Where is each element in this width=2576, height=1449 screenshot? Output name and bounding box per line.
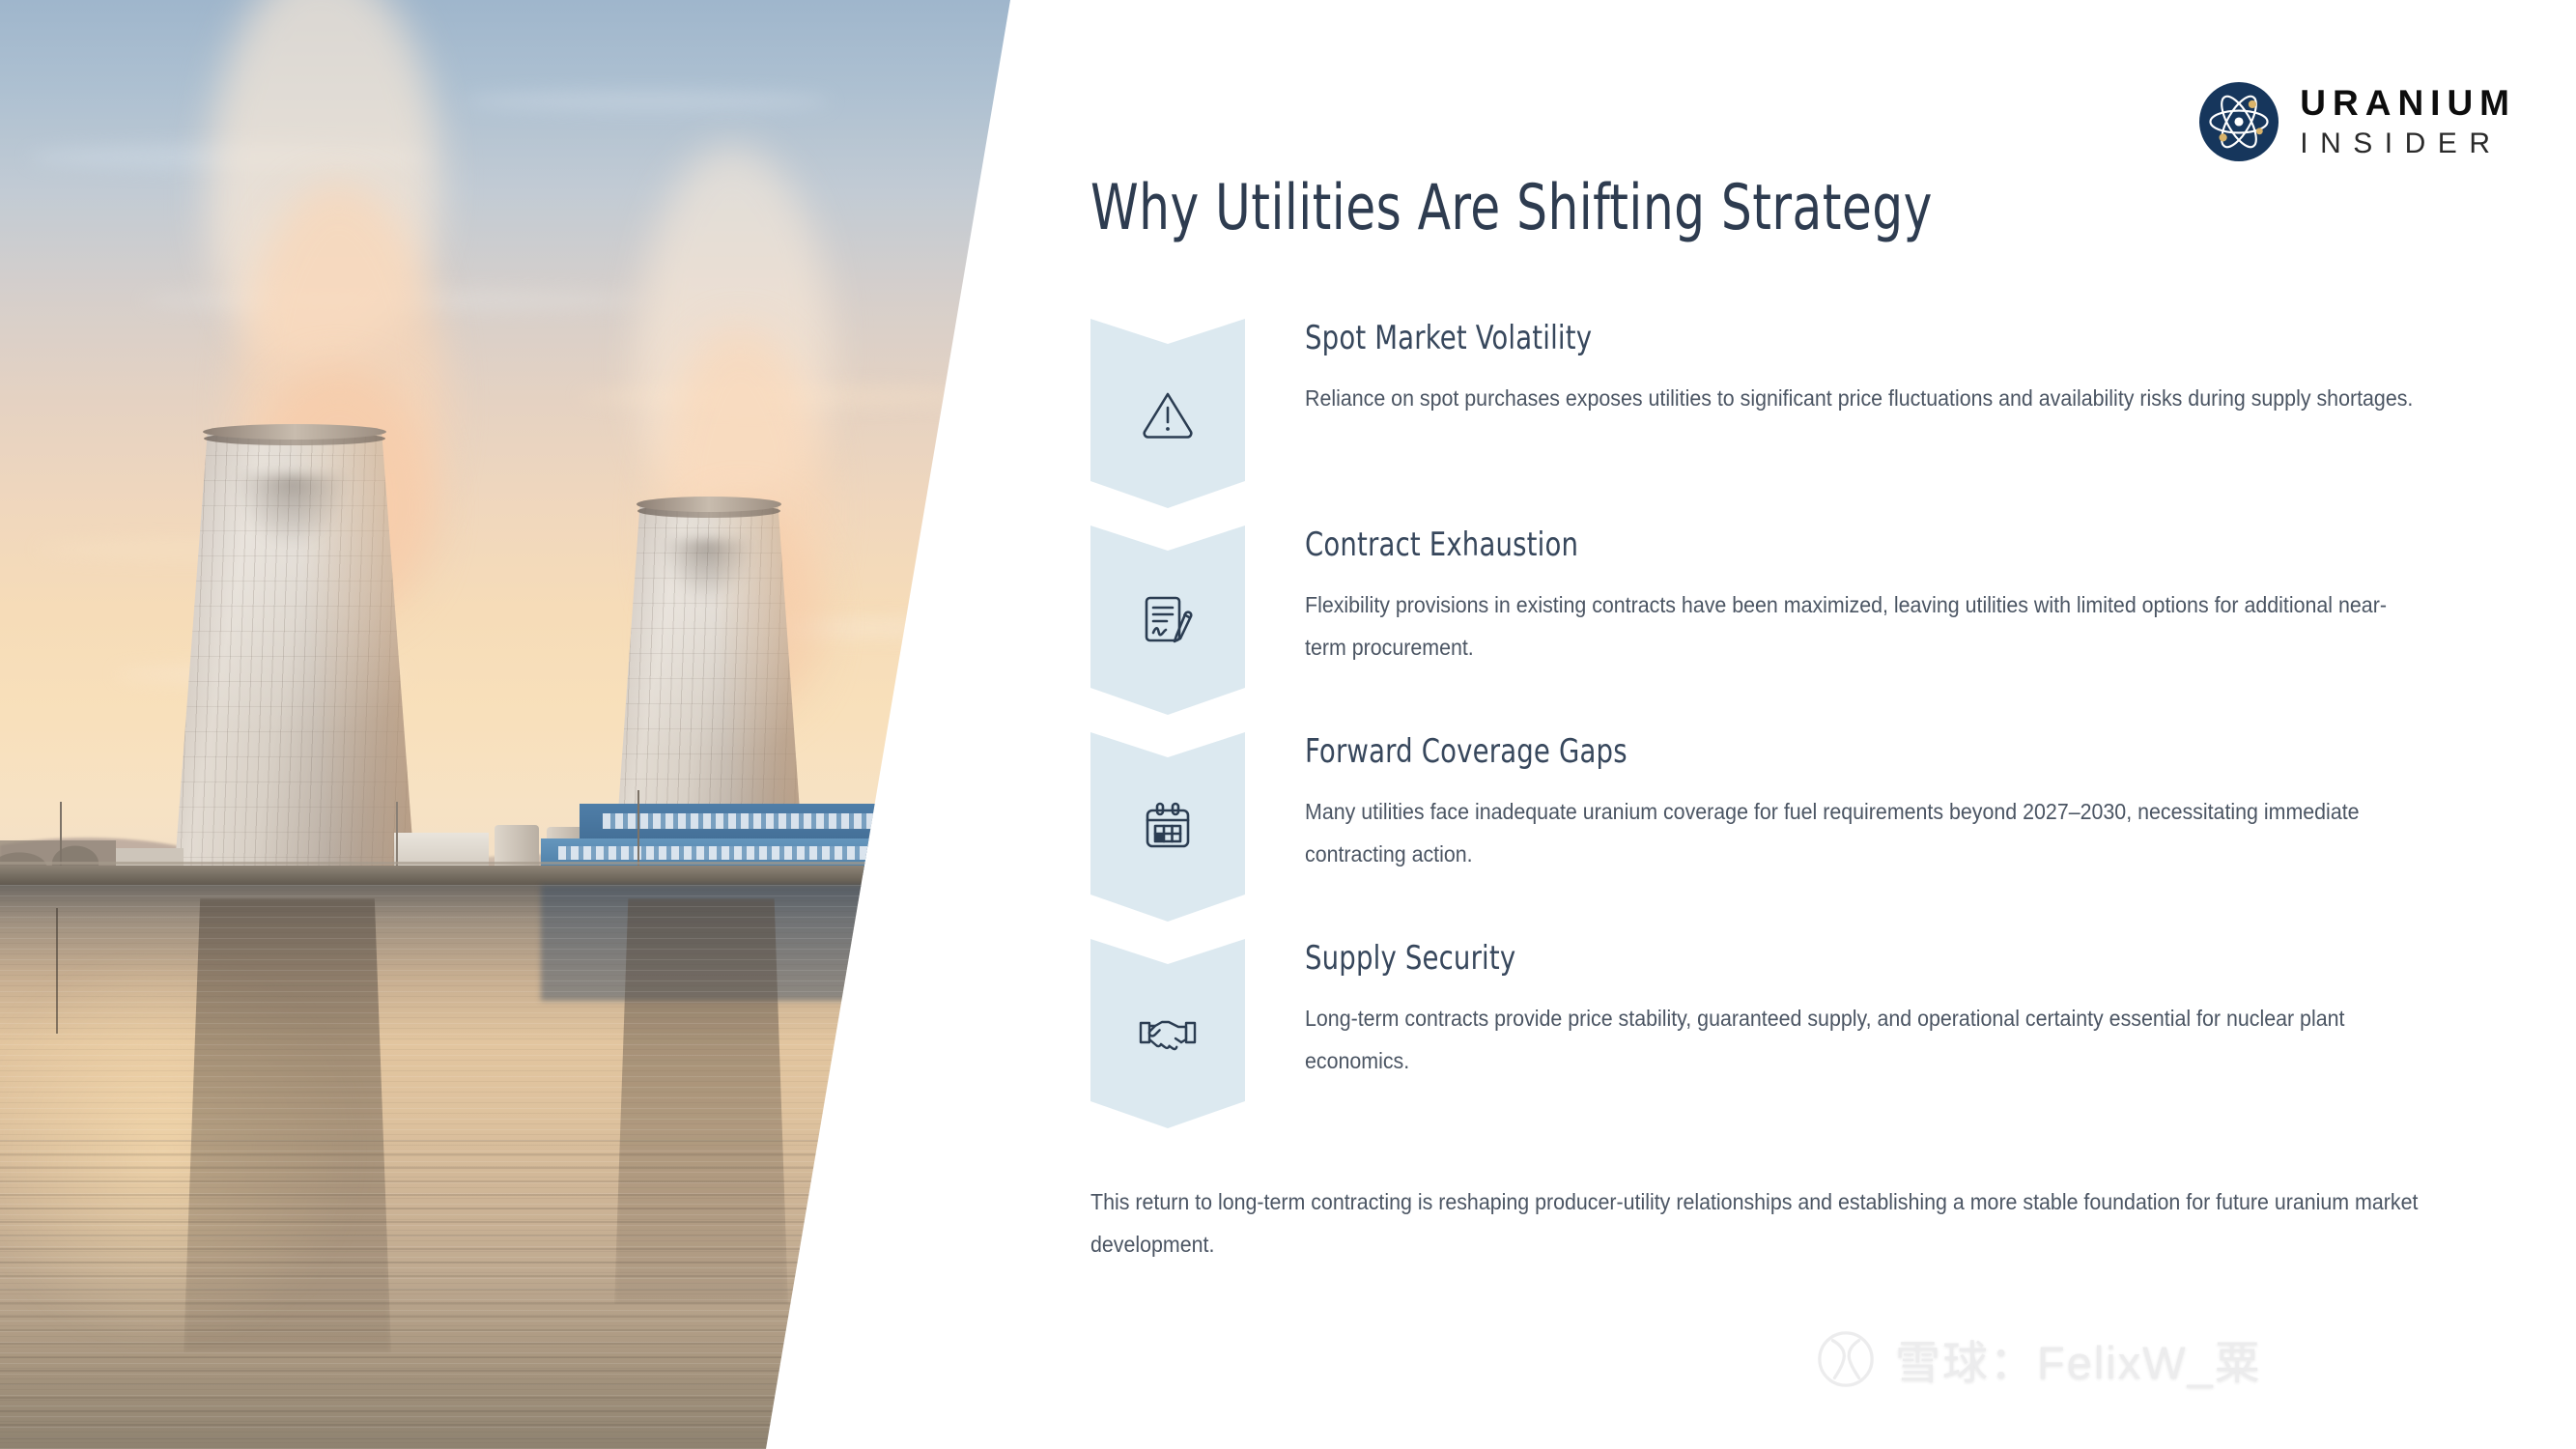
list-item-body: Long-term contracts provide price stabil… — [1305, 997, 2426, 1082]
list-item[interactable]: Supply Security Long-term contracts prov… — [1090, 939, 2510, 1146]
list-item[interactable]: Contract Exhaustion Flexibility provisio… — [1090, 526, 2510, 732]
list-item[interactable]: Spot Market Volatility Reliance on spot … — [1090, 319, 2510, 526]
list-item-body: Flexibility provisions in existing contr… — [1305, 583, 2426, 668]
shoreline — [0, 866, 1024, 887]
list-item-body: Many utilities face inadequate uranium c… — [1305, 790, 2426, 875]
cooling-tower — [174, 430, 415, 879]
water-post — [56, 908, 58, 1034]
list-item-body: Reliance on spot purchases exposes utili… — [1305, 377, 2426, 419]
icon-badge — [1090, 526, 1245, 715]
list-item-heading: Spot Market Volatility — [1305, 319, 2390, 357]
signed-contract-icon — [1140, 593, 1196, 647]
handshake-icon — [1138, 1013, 1198, 1054]
list-item-heading: Supply Security — [1305, 939, 2390, 978]
closing-paragraph: This return to long-term contracting is … — [1090, 1180, 2420, 1265]
shoreline-rail — [0, 862, 1024, 865]
page-title: Why Utilities Are Shifting Strategy — [1090, 172, 1933, 244]
brand-logo[interactable]: URANIUM INSIDER — [2199, 82, 2516, 161]
content-panel: URANIUM INSIDER Why Utilities Are Shifti… — [1010, 0, 2576, 1449]
atom-icon — [2199, 82, 2279, 161]
calendar-icon — [1141, 801, 1195, 853]
list-item[interactable]: Forward Coverage Gaps Many utilities fac… — [1090, 732, 2510, 939]
icon-badge — [1090, 732, 1245, 922]
list-item-heading: Forward Coverage Gaps — [1305, 732, 2390, 771]
photo-scene — [0, 0, 1024, 1449]
reason-list: Spot Market Volatility Reliance on spot … — [1090, 319, 2510, 1146]
list-item-heading: Contract Exhaustion — [1305, 526, 2390, 564]
sky — [0, 0, 1024, 874]
brand-name-primary: URANIUM — [2300, 85, 2516, 121]
brand-name-secondary: INSIDER — [2300, 129, 2516, 158]
warning-triangle-icon — [1141, 388, 1195, 439]
icon-badge — [1090, 939, 1245, 1128]
water-ripples — [0, 1140, 1024, 1449]
slide: URANIUM INSIDER Why Utilities Are Shifti… — [0, 0, 2576, 1449]
icon-badge — [1090, 319, 1245, 508]
utility-pole — [637, 790, 639, 871]
hero-photo — [0, 0, 1024, 1449]
cloud-streak — [464, 92, 831, 111]
